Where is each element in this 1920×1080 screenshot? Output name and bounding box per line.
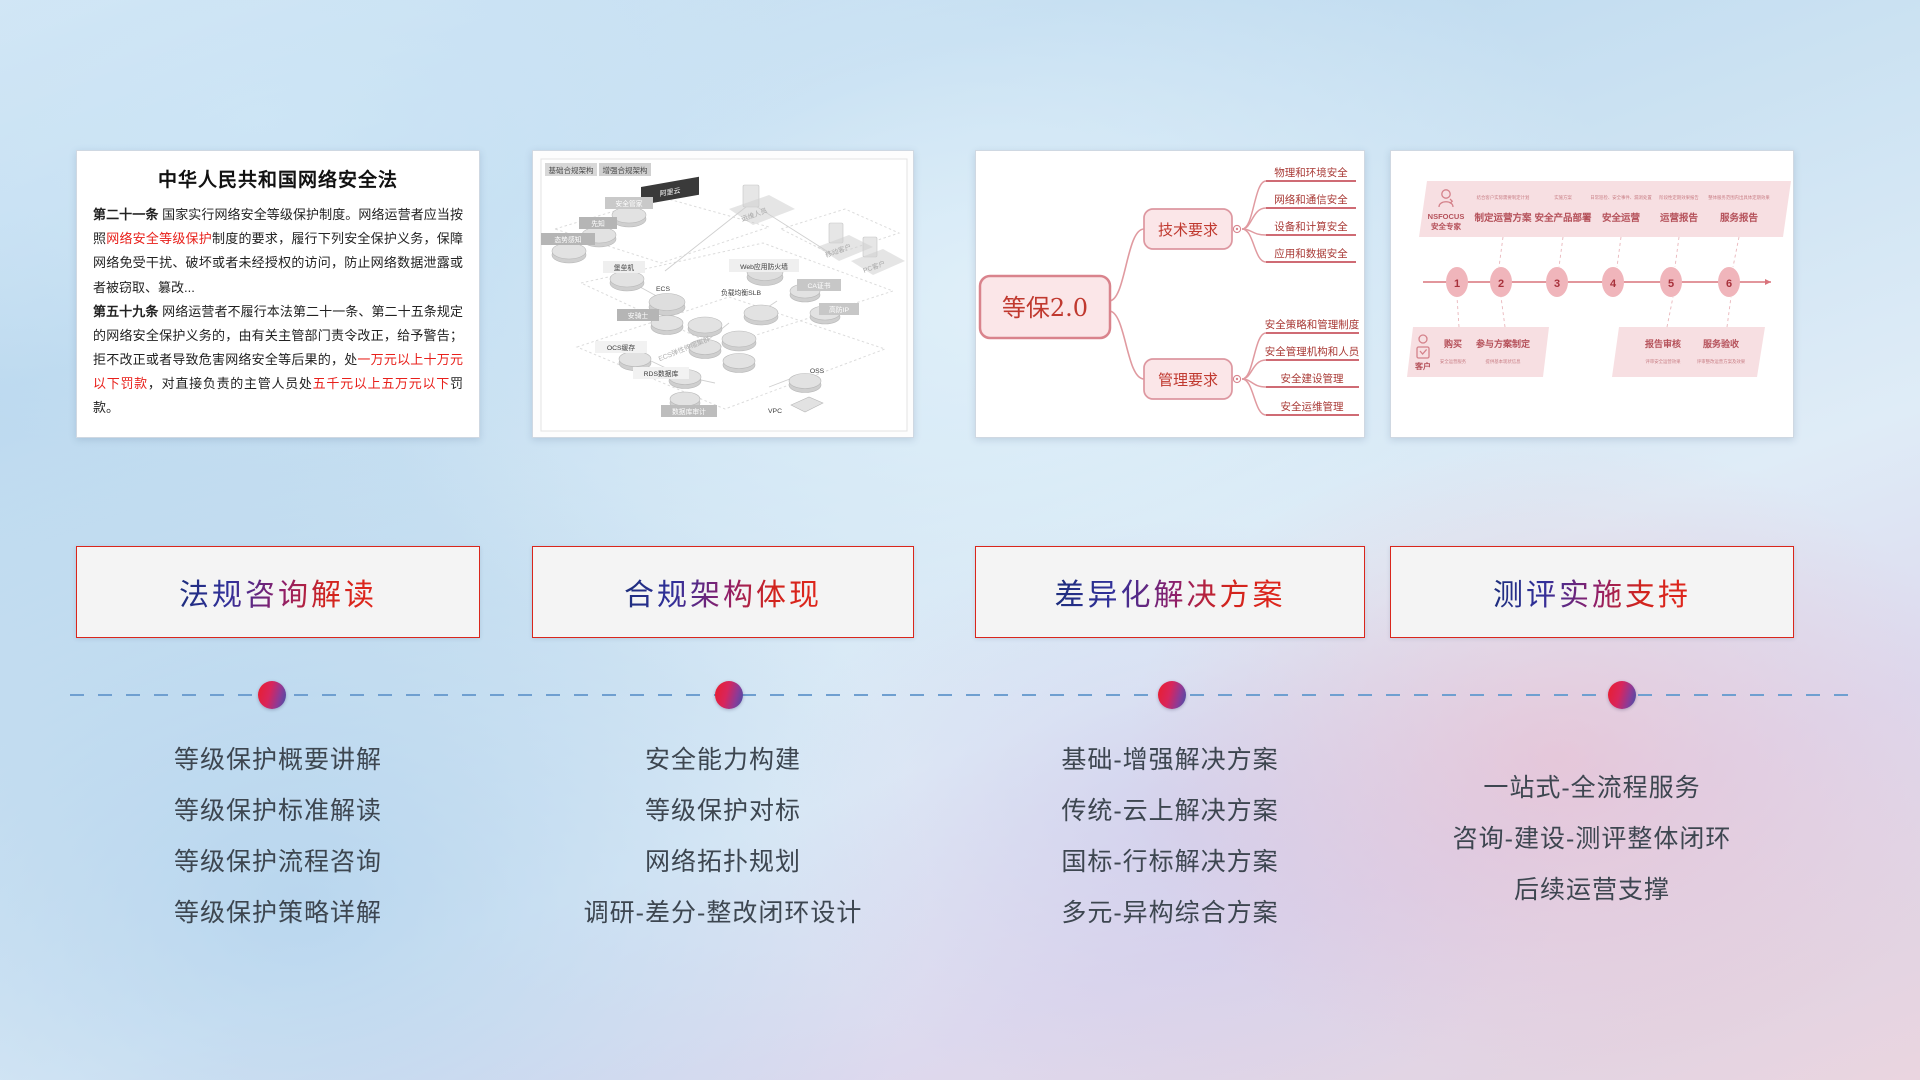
- article-59-label: 第五十九条: [93, 304, 158, 319]
- top-item-3-title: 运营报告: [1660, 212, 1699, 224]
- mindmap-tech-connectors: [1242, 181, 1266, 262]
- top-item-3-sub: 阶段性定期效果报告: [1659, 194, 1699, 201]
- arch-label-1: 先知: [591, 219, 605, 228]
- top-item-1-title: 安全产品部署: [1534, 212, 1592, 224]
- list-item: 传统-云上解决方案: [975, 786, 1365, 837]
- list-item: 国标-行标解决方案: [975, 837, 1365, 888]
- list-item: 多元-异构综合方案: [975, 888, 1365, 939]
- bottom-item-1-title: 参与方案制定: [1476, 338, 1531, 349]
- arch-label-5: 安骑士: [628, 311, 649, 320]
- top-item-4-title: 服务报告: [1720, 212, 1759, 224]
- arch-label-14: VPC: [768, 408, 782, 415]
- label-text-3: 测评实施支持: [1493, 570, 1691, 614]
- list-item: 调研-差分-整改闭环设计: [532, 888, 914, 939]
- mindmap-diagram: 等保2.0 技术要求 物理和环境安全: [976, 151, 1364, 437]
- expert-label-line2: 安全专家: [1431, 221, 1461, 231]
- nsfocus-diagram: NSFOCUS 安全专家 客户 结合客户实际需要制定计划 制定运营方案 实施方案…: [1391, 151, 1793, 437]
- list-item: 等级保护标准解读: [76, 786, 480, 837]
- nsfocus-svg: NSFOCUS 安全专家 客户 结合客户实际需要制定计划 制定运营方案 实施方案…: [1391, 151, 1794, 438]
- label-boxes-row: 法规咨询解读 合规架构体现 差异化解决方案 测评实施支持: [0, 546, 1920, 644]
- step-4: 4: [1610, 278, 1617, 290]
- label-box-compliance-architecture[interactable]: 合规架构体现: [532, 546, 914, 638]
- list-item: 等级保护概要讲解: [76, 735, 480, 786]
- card-cloud-architecture[interactable]: 基础合规架构 增强合规架构: [532, 150, 914, 438]
- bullet-column-2: 安全能力构建 等级保护对标 网络拓扑规划 调研-差分-整改闭环设计: [532, 735, 914, 939]
- label-text-0: 法规咨询解读: [179, 570, 377, 614]
- top-item-1-sub: 实施方案: [1554, 194, 1572, 201]
- mindmap-tech-leaf-0: 物理和环境安全: [1274, 166, 1348, 179]
- bottom-item-0-sub: 安全运营服务: [1440, 358, 1467, 365]
- arch-label-13: OSS: [810, 368, 825, 375]
- cards-row: 中华人民共和国网络安全法 第二十一条 国家实行网络安全等级保护制度。网络运营者应…: [0, 150, 1920, 440]
- mindmap-branch-mgmt-label: 管理要求: [1158, 371, 1218, 389]
- nsfocus-bottom-banner-right: [1612, 327, 1765, 377]
- mindmap-mgmt-connectors: [1242, 333, 1266, 415]
- arch-label-7: RDS数据库: [644, 369, 679, 378]
- timeline-dot-1[interactable]: [258, 681, 286, 709]
- mindmap-mgmt-leaves: 安全策略和管理制度 安全管理机构和人员 安全建设管理 安全运维管理: [1265, 318, 1360, 415]
- step-3: 3: [1554, 278, 1560, 290]
- list-item: 咨询-建设-测评整体闭环: [1390, 814, 1794, 865]
- bottom-item-3-sub: 评审整改运营方案及效果: [1697, 358, 1746, 365]
- architecture-diagram: 基础合规架构 增强合规架构: [533, 151, 913, 437]
- top-item-2-title: 安全运营: [1602, 212, 1641, 224]
- mindmap-mgmt-leaf-0: 安全策略和管理制度: [1265, 318, 1360, 331]
- list-item: 网络拓扑规划: [532, 837, 914, 888]
- mindmap-tech-leaf-2: 设备和计算安全: [1274, 220, 1348, 233]
- customer-label: 客户: [1414, 361, 1431, 371]
- top-item-2-sub: 日常巡检、安全事件、漏洞处置: [1590, 194, 1652, 201]
- list-item: 后续运营支撑: [1390, 865, 1794, 916]
- mindmap-root-node[interactable]: 等保2.0: [980, 276, 1110, 338]
- timeline-dot-2[interactable]: [715, 681, 743, 709]
- step-2: 2: [1498, 278, 1504, 290]
- law-article-21: 第二十一条 国家实行网络安全等级保护制度。网络运营者应当按照网络安全等级保护制度…: [93, 203, 463, 300]
- mindmap-mgmt-leaf-2: 安全建设管理: [1281, 372, 1344, 385]
- arch-label-0: 安全管家: [615, 199, 642, 208]
- law-article-59: 第五十九条 网络运营者不履行本法第二十一条、第二十五条规定的网络安全保护义务的，…: [93, 300, 463, 421]
- article-21-highlight: 网络安全等级保护: [106, 231, 212, 246]
- article-21-label: 第二十一条: [93, 207, 158, 222]
- mindmap-tech-leaf-1: 网络和通信安全: [1274, 193, 1348, 206]
- top-item-0-sub: 结合客户实际需要制定计划: [1477, 194, 1530, 201]
- list-item: 等级保护对标: [532, 786, 914, 837]
- bullet-column-4: 一站式-全流程服务 咨询-建设-测评整体闭环 后续运营支撑: [1390, 763, 1794, 916]
- mindmap-mgmt-leaf-3: 安全运维管理: [1281, 400, 1344, 413]
- label-text-1: 合规架构体现: [624, 570, 822, 614]
- bullet-column-1: 等级保护概要讲解 等级保护标准解读 等级保护流程咨询 等级保护策略详解: [76, 735, 480, 939]
- top-item-4-sub: 整体服务范围内出具体定期效果: [1708, 194, 1770, 201]
- list-item: 等级保护策略详解: [76, 888, 480, 939]
- nsfocus-top-banner: [1419, 181, 1791, 237]
- arch-label-4: ECS: [656, 286, 670, 293]
- timeline: [70, 694, 1850, 696]
- bullet-column-3: 基础-增强解决方案 传统-云上解决方案 国标-行标解决方案 多元-异构综合方案: [975, 735, 1365, 939]
- article-59-mid: ，对直接负责的主管人员处: [148, 376, 313, 391]
- label-box-differentiated-solution[interactable]: 差异化解决方案: [975, 546, 1365, 638]
- mindmap-branch-tech-label: 技术要求: [1158, 221, 1218, 239]
- law-title: 中华人民共和国网络安全法: [93, 165, 463, 192]
- label-box-regulation-consulting[interactable]: 法规咨询解读: [76, 546, 480, 638]
- bottom-item-2-sub: 评审安全运营效果: [1645, 358, 1681, 365]
- list-item: 一站式-全流程服务: [1390, 763, 1794, 814]
- card-nsfocus-timeline[interactable]: NSFOCUS 安全专家 客户 结合客户实际需要制定计划 制定运营方案 实施方案…: [1390, 150, 1794, 438]
- arch-label-9: 负载均衡SLB: [721, 288, 762, 297]
- architecture-svg: 基础合规架构 增强合规架构: [533, 151, 914, 438]
- list-item: 等级保护流程咨询: [76, 837, 480, 888]
- article-59-fine-2: 五千元以上五万元以下: [313, 376, 450, 391]
- label-box-assessment-support[interactable]: 测评实施支持: [1390, 546, 1794, 638]
- arch-tab-basic[interactable]: 基础合规架构: [549, 165, 594, 175]
- step-1: 1: [1454, 278, 1460, 290]
- step-6: 6: [1726, 278, 1732, 290]
- arch-label-11: CA证书: [807, 281, 830, 290]
- arch-label-12: 高防IP: [829, 305, 849, 314]
- mindmap-tech-leaves: 物理和环境安全 网络和通信安全 设备和计算安全 应用和数据安全: [1266, 166, 1356, 262]
- timeline-dot-4[interactable]: [1608, 681, 1636, 709]
- mindmap-root-label: 等保2.0: [1002, 294, 1088, 322]
- timeline-dashed-line: [70, 694, 1850, 696]
- bullet-columns: 等级保护概要讲解 等级保护标准解读 等级保护流程咨询 等级保护策略详解 安全能力…: [0, 735, 1920, 975]
- timeline-dot-3[interactable]: [1158, 681, 1186, 709]
- arch-label-8: 数据库审计: [672, 407, 706, 416]
- mindmap-mgmt-leaf-1: 安全管理机构和人员: [1265, 345, 1360, 358]
- mindmap-tech-leaf-3: 应用和数据安全: [1274, 247, 1348, 260]
- label-text-2: 差异化解决方案: [1055, 570, 1286, 614]
- card-cybersecurity-law[interactable]: 中华人民共和国网络安全法 第二十一条 国家实行网络安全等级保护制度。网络运营者应…: [76, 150, 480, 438]
- law-text-body: 中华人民共和国网络安全法 第二十一条 国家实行网络安全等级保护制度。网络运营者应…: [77, 151, 479, 431]
- mindmap-svg: 等保2.0 技术要求 物理和环境安全: [976, 151, 1365, 438]
- top-item-0-title: 制定运营方案: [1474, 212, 1532, 224]
- expert-label-line1: NSFOCUS: [1428, 212, 1465, 221]
- bottom-item-2-title: 报告审核: [1645, 338, 1681, 349]
- arch-label-10: Web应用防火墙: [740, 262, 788, 271]
- arch-label-3: 堡垒机: [614, 263, 635, 272]
- list-item: 基础-增强解决方案: [975, 735, 1365, 786]
- mindmap-branch-tech[interactable]: 技术要求: [1144, 209, 1241, 249]
- mindmap-branch-mgmt[interactable]: 管理要求: [1144, 359, 1241, 399]
- card-mindmap[interactable]: 等保2.0 技术要求 物理和环境安全: [975, 150, 1365, 438]
- bottom-item-1-sub: 提供基本现状信息: [1485, 358, 1521, 365]
- nsfocus-axis-arrow: [1765, 279, 1771, 285]
- arch-label-2: 态势感知: [554, 235, 581, 244]
- arch-tab-enhanced[interactable]: 增强合规架构: [603, 165, 648, 175]
- step-5: 5: [1668, 278, 1674, 290]
- bottom-item-3-title: 服务验收: [1703, 338, 1739, 349]
- bottom-item-0-title: 购买: [1444, 338, 1462, 349]
- list-item: 安全能力构建: [532, 735, 914, 786]
- arch-label-6: OCS缓存: [607, 343, 636, 352]
